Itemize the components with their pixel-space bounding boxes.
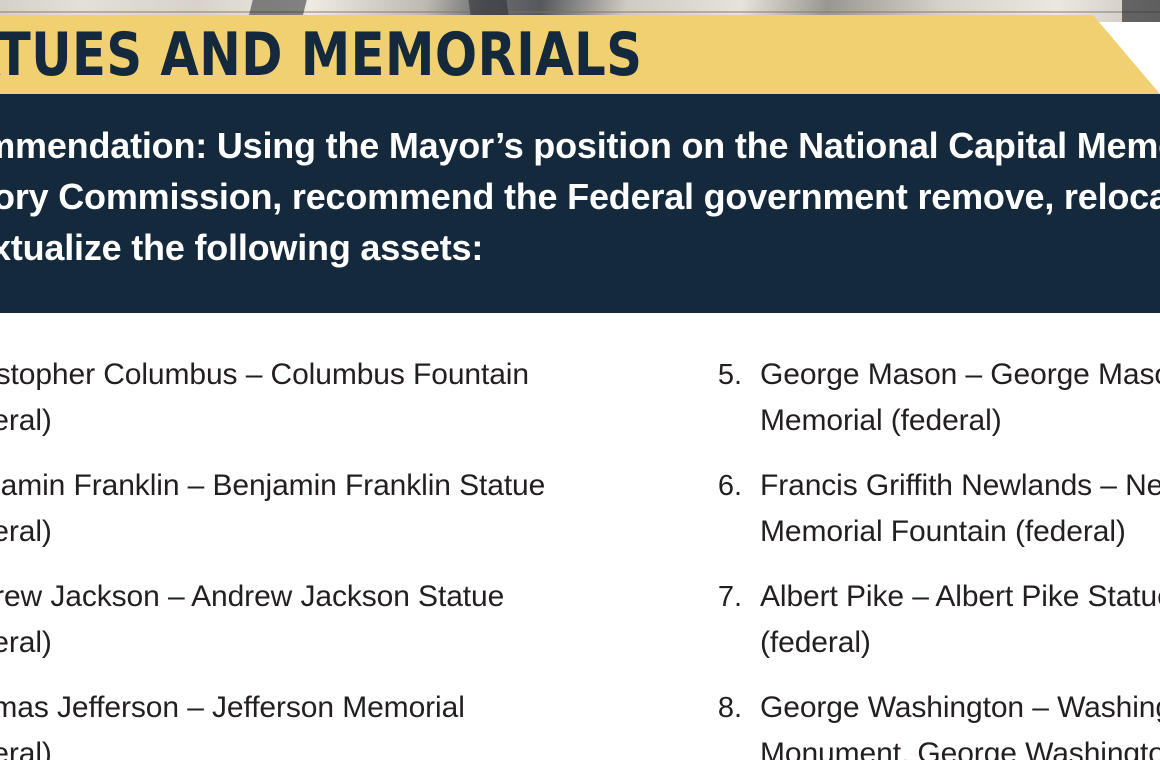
recommendation-label: Recommendation: [0, 125, 207, 166]
list-item-number: 6. [597, 463, 760, 509]
list-item-number: 8. [597, 685, 760, 731]
document-page-viewport: STATUES AND MEMORIALS Recommendation: Us… [0, 0, 1160, 760]
list-item: 1. Christopher Columbus – Columbus Fount… [0, 352, 577, 444]
page-title: STATUES AND MEMORIALS [0, 25, 642, 85]
list-item: 5. George Mason – George Mason Memorial … [597, 352, 1160, 444]
list-item: 6. Francis Griffith Newlands – Newlands … [597, 463, 1160, 555]
photo-mortar-line [0, 11, 1160, 13]
list-item-label: Andrew Jackson – Andrew Jackson Statue (… [0, 574, 577, 666]
asset-list-column-left: 1. Christopher Columbus – Columbus Fount… [0, 352, 597, 760]
list-item: 2. Benjamin Franklin – Benjamin Franklin… [0, 463, 577, 555]
list-item: 4. Thomas Jefferson – Jefferson Memorial… [0, 685, 577, 760]
section-title-banner: STATUES AND MEMORIALS [0, 15, 1160, 94]
list-item: 8. George Washington – Washington Monume… [597, 685, 1160, 760]
list-item-label: Christopher Columbus – Columbus Fountain… [0, 352, 577, 444]
list-item-label: Albert Pike – Albert Pike Statue (federa… [760, 574, 1160, 666]
photo-shadow-shape-c [1122, 0, 1160, 22]
list-item-label: Thomas Jefferson – Jefferson Memorial (f… [0, 685, 577, 760]
recommendation-text: Recommendation: Using the Mayor’s positi… [0, 120, 1160, 273]
list-item: 3. Andrew Jackson – Andrew Jackson Statu… [0, 574, 577, 666]
document-page-canvas: STATUES AND MEMORIALS Recommendation: Us… [0, 0, 1160, 760]
list-item-label: George Mason – George Mason Memorial (fe… [760, 352, 1160, 444]
asset-list-column-right: 5. George Mason – George Mason Memorial … [597, 352, 1160, 760]
list-item-number: 7. [597, 574, 760, 620]
list-item: 7. Albert Pike – Albert Pike Statue (fed… [597, 574, 1160, 666]
recommendation-block: Recommendation: Using the Mayor’s positi… [0, 94, 1160, 313]
list-item-label: Francis Griffith Newlands – Newlands Mem… [760, 463, 1160, 555]
list-item-number: 5. [597, 352, 760, 398]
list-item-label: Benjamin Franklin – Benjamin Franklin St… [0, 463, 577, 555]
list-item-label: George Washington – Washington Monument,… [760, 685, 1160, 760]
asset-list: 1. Christopher Columbus – Columbus Fount… [0, 352, 1160, 760]
